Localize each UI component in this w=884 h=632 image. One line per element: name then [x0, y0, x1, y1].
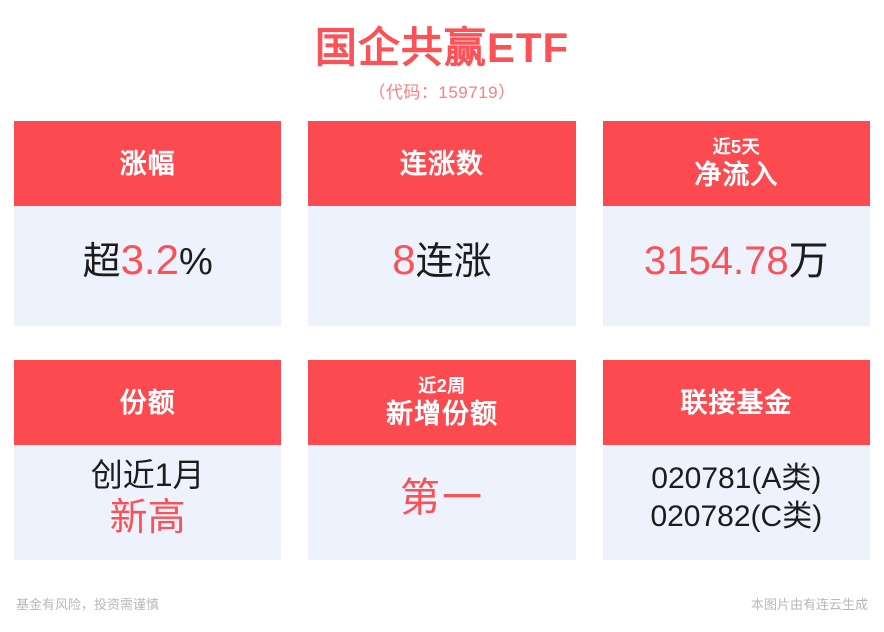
shares-value-line2: 新高 — [110, 495, 186, 541]
streak-number: 8 — [392, 236, 415, 283]
newshares-rank-value: 第一 — [400, 473, 484, 523]
netinflow-number: 3154.78 — [644, 239, 789, 283]
stat-card-gain-body: 超3.2% — [14, 206, 281, 326]
stat-card-newshares-period: 近2周 — [418, 375, 466, 397]
stat-card-newshares-title: 新增份额 — [386, 397, 498, 431]
infographic-page: 国企共赢ETF （代码：159719） 涨幅 超3.2% 连涨数 8连涨 — [0, 0, 884, 632]
stat-card-grid: 涨幅 超3.2% 连涨数 8连涨 近5天 净流入 — [14, 121, 870, 560]
shares-value-line1: 创近1月 — [91, 455, 205, 495]
stat-card-feederfund: 联接基金 020781(A类) 020782(C类) — [603, 360, 870, 560]
stat-card-shares: 份额 创近1月 新高 — [14, 360, 281, 560]
stat-card-newshares-header: 近2周 新增份额 — [308, 360, 575, 445]
risk-disclaimer: 基金有风险，投资需谨慎 — [16, 596, 159, 614]
fund-code-subtitle: （代码：159719） — [0, 82, 884, 104]
stat-card-shares-header: 份额 — [14, 360, 281, 445]
page-footer: 基金有风险，投资需谨慎 本图片由有连云生成 — [0, 596, 884, 614]
stat-card-streak: 连涨数 8连涨 — [308, 121, 575, 326]
stat-card-feederfund-title: 联接基金 — [680, 386, 792, 420]
stat-card-netinflow-value: 3154.78万 — [644, 237, 829, 285]
stat-card-gain: 涨幅 超3.2% — [14, 121, 281, 326]
stat-card-netinflow-body: 3154.78万 — [603, 206, 870, 326]
stat-card-feederfund-body: 020781(A类) 020782(C类) — [603, 445, 870, 560]
page-header: 国企共赢ETF （代码：159719） — [0, 0, 884, 104]
stat-card-newshares: 近2周 新增份额 第一 — [308, 360, 575, 560]
netinflow-unit: 万 — [789, 239, 829, 283]
stat-card-netinflow-header: 近5天 净流入 — [603, 121, 870, 206]
page-title: 国企共赢ETF — [0, 22, 884, 74]
stat-card-netinflow-period: 近5天 — [713, 136, 761, 158]
gain-number: 3.2 — [121, 236, 179, 283]
feederfund-code-a: 020781(A类) — [651, 460, 821, 498]
image-attribution: 本图片由有连云生成 — [751, 596, 868, 614]
stat-card-feederfund-header: 联接基金 — [603, 360, 870, 445]
stat-card-shares-body: 创近1月 新高 — [14, 445, 281, 560]
stat-card-netinflow: 近5天 净流入 3154.78万 — [603, 121, 870, 326]
streak-unit: 连涨 — [416, 241, 492, 283]
stat-card-gain-header: 涨幅 — [14, 121, 281, 206]
gain-prefix: 超 — [83, 241, 121, 283]
stat-card-newshares-body: 第一 — [308, 445, 575, 560]
stat-card-gain-title: 涨幅 — [120, 147, 176, 181]
feederfund-code-c: 020782(C类) — [650, 498, 822, 536]
stat-card-streak-body: 8连涨 — [308, 206, 575, 326]
gain-unit: % — [179, 241, 213, 283]
stat-card-gain-value: 超3.2% — [83, 237, 213, 285]
stat-card-streak-header: 连涨数 — [308, 121, 575, 206]
stat-card-streak-value: 8连涨 — [392, 237, 491, 285]
stat-card-shares-title: 份额 — [120, 386, 176, 420]
stat-card-streak-title: 连涨数 — [400, 147, 484, 181]
stat-card-netinflow-title: 净流入 — [694, 158, 778, 192]
